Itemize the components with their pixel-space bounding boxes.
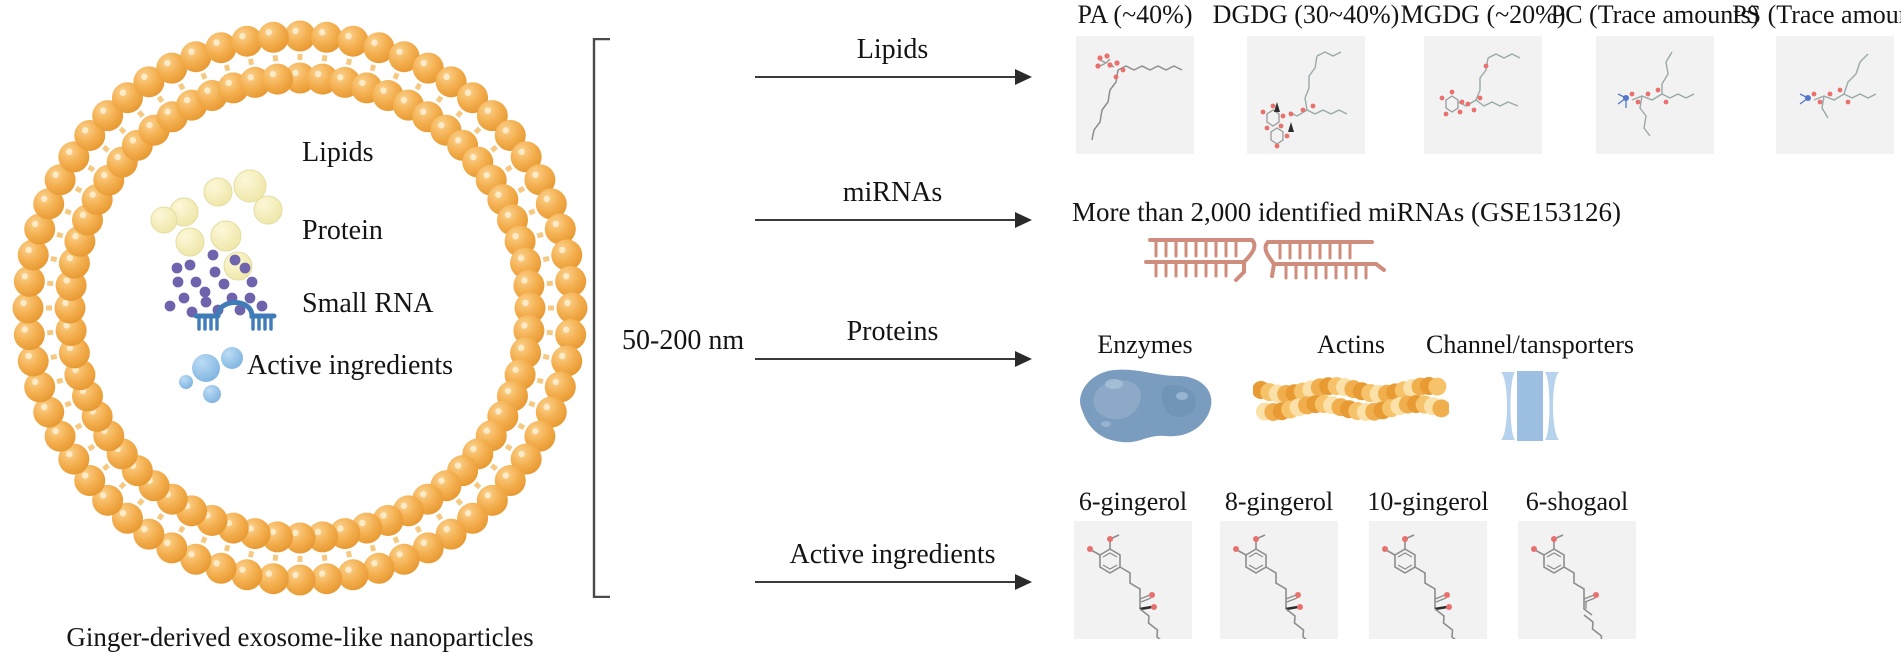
active-ingredients-group: 6-gingerol 8-gingerol 10-gingerol 6-shog… (1060, 487, 1620, 653)
arrow-proteins: Proteins (755, 322, 1030, 382)
lipid-label-ps: PS (Trace amounts) (1732, 0, 1901, 30)
mirna-illustration (1140, 232, 1460, 292)
mirna-description: More than 2,000 identified miRNAs (GSE15… (1072, 197, 1621, 228)
ai-structure-6-shogaol (1518, 521, 1636, 639)
ai-label-6-gingerol: 6-gingerol (1079, 487, 1187, 517)
lipid-droplets (151, 170, 282, 280)
enzyme-blob-icon (1070, 366, 1220, 448)
arrow-line (755, 581, 1030, 583)
protein-label-actins: Actins (1317, 330, 1385, 360)
ai-structure-6-gingerol (1074, 521, 1192, 639)
lipid-structure-mgdg (1424, 36, 1542, 154)
vesicle-label-protein: Protein (302, 215, 383, 247)
protein-label-channels: Channel/tansporters (1426, 330, 1634, 360)
lipid-label-pc: PC (Trace amounts) (1551, 0, 1759, 30)
active-ingredient-icon (179, 347, 243, 403)
ai-structure-10-gingerol (1369, 521, 1487, 639)
lipid-label-mgdg: MGDG (~20%) (1401, 0, 1566, 30)
arrow-label-mirnas: miRNAs (843, 177, 943, 209)
arrow-lipids: Lipids (755, 40, 1030, 100)
arrow-line (755, 76, 1030, 78)
vesicle-caption: Ginger-derived exosome-like nanoparticle… (0, 622, 600, 653)
arrow-line (755, 219, 1030, 221)
protein-dots (165, 250, 268, 318)
arrow-head-icon (1015, 69, 1032, 85)
lipid-bilayer (13, 21, 588, 596)
size-bracket (588, 38, 614, 598)
channel-transporter-icon (1495, 366, 1565, 446)
lipid-structure-dgdg (1247, 36, 1365, 154)
arrow-label-proteins: Proteins (847, 316, 939, 348)
vesicle-diagram: Lipids Protein Small RNA Active ingredie… (0, 10, 600, 620)
lipid-label-dgdg: DGDG (30~40%) (1213, 0, 1400, 30)
arrow-head-icon (1015, 212, 1032, 228)
ai-label-8-gingerol: 8-gingerol (1225, 487, 1333, 517)
lipid-structure-ps (1776, 36, 1894, 154)
arrow-label-active-ingredients: Active ingredients (789, 539, 995, 571)
vesicle-label-lipids: Lipids (302, 137, 374, 169)
ai-label-6-shogaol: 6-shogaol (1526, 487, 1629, 517)
lipid-label-pa: PA (~40%) (1078, 0, 1193, 30)
arrow-active-ingredients: Active ingredients (755, 545, 1030, 605)
arrow-mirnas: miRNAs (755, 183, 1030, 243)
lipid-structure-pa (1076, 36, 1194, 154)
vesicle-label-active-ingredients: Active ingredients (247, 350, 453, 382)
size-label: 50-200 nm (622, 325, 744, 357)
protein-label-enzymes: Enzymes (1097, 330, 1192, 360)
vesicle-illustration (0, 10, 600, 620)
arrow-head-icon (1015, 574, 1032, 590)
lipid-structure-pc (1596, 36, 1714, 154)
arrow-head-icon (1015, 351, 1032, 367)
ai-structure-8-gingerol (1220, 521, 1338, 639)
lipids-group: PA (~40%) DGDG (30~40%) (1060, 0, 1901, 160)
ai-label-10-gingerol: 10-gingerol (1367, 487, 1488, 517)
arrow-label-lipids: Lipids (857, 34, 929, 66)
arrow-line (755, 358, 1030, 360)
proteins-group: Enzymes Actins Channel/tansporters (1050, 330, 1610, 460)
vesicle-label-small-rna: Small RNA (302, 288, 433, 320)
actin-filament-icon (1253, 366, 1449, 430)
